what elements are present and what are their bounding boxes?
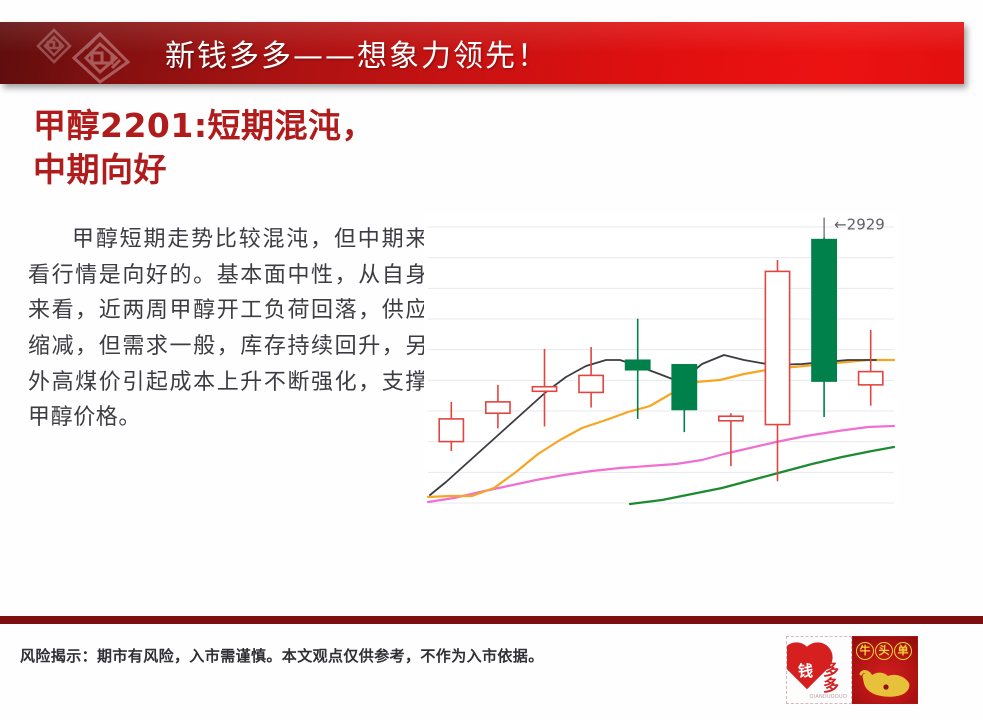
niu-char-2: 单 <box>894 642 912 660</box>
qian-char: 钱 <box>798 664 813 679</box>
page-title: 甲醇2201:短期混沌， 中期向好 <box>33 104 453 191</box>
chart-annotations: ←2929 <box>824 216 885 238</box>
header-banner: 新钱多多——想象力领先！ <box>0 22 964 84</box>
candlestick-chart: ←2929 <box>424 214 898 510</box>
slide-canvas: 新钱多多——想象力领先！ 甲醇2201:短期混沌， 中期向好 甲醇短期走势比较混… <box>0 0 983 720</box>
footer-logos: 钱 多多 QIANDUODUO 牛 头 单 <box>786 636 918 704</box>
niutoudan-logo: 牛 头 单 <box>852 636 918 704</box>
niu-char-row: 牛 头 单 <box>856 642 916 660</box>
chart-svg: ←2929 <box>424 214 898 510</box>
svg-text:←2929: ←2929 <box>834 216 885 234</box>
chart-candles <box>439 237 883 481</box>
qianduoduo-logo: 钱 多多 QIANDUODUO <box>786 636 852 704</box>
body-paragraph: 甲醇短期走势比较混沌，但中期来看行情是向好的。基本面中性，从自身来看，近两周甲醇… <box>28 222 428 436</box>
niu-char-0: 牛 <box>856 642 874 660</box>
niu-char-1: 头 <box>875 642 893 660</box>
page-title-line-1: 甲醇2201:短期混沌， <box>33 104 453 148</box>
duoduo-chars: 多多 <box>823 662 851 694</box>
header-title: 新钱多多——想象力领先！ <box>165 31 549 75</box>
bull-icon <box>859 667 913 701</box>
page-title-line-2: 中期向好 <box>33 148 453 192</box>
disclaimer-text: 风险揭示：期市有风险，入市需谨慎。本文观点仅供参考，不作为入市依据。 <box>20 645 544 666</box>
chinese-knot-emblem-icon <box>24 24 142 84</box>
footer-divider <box>0 616 983 624</box>
